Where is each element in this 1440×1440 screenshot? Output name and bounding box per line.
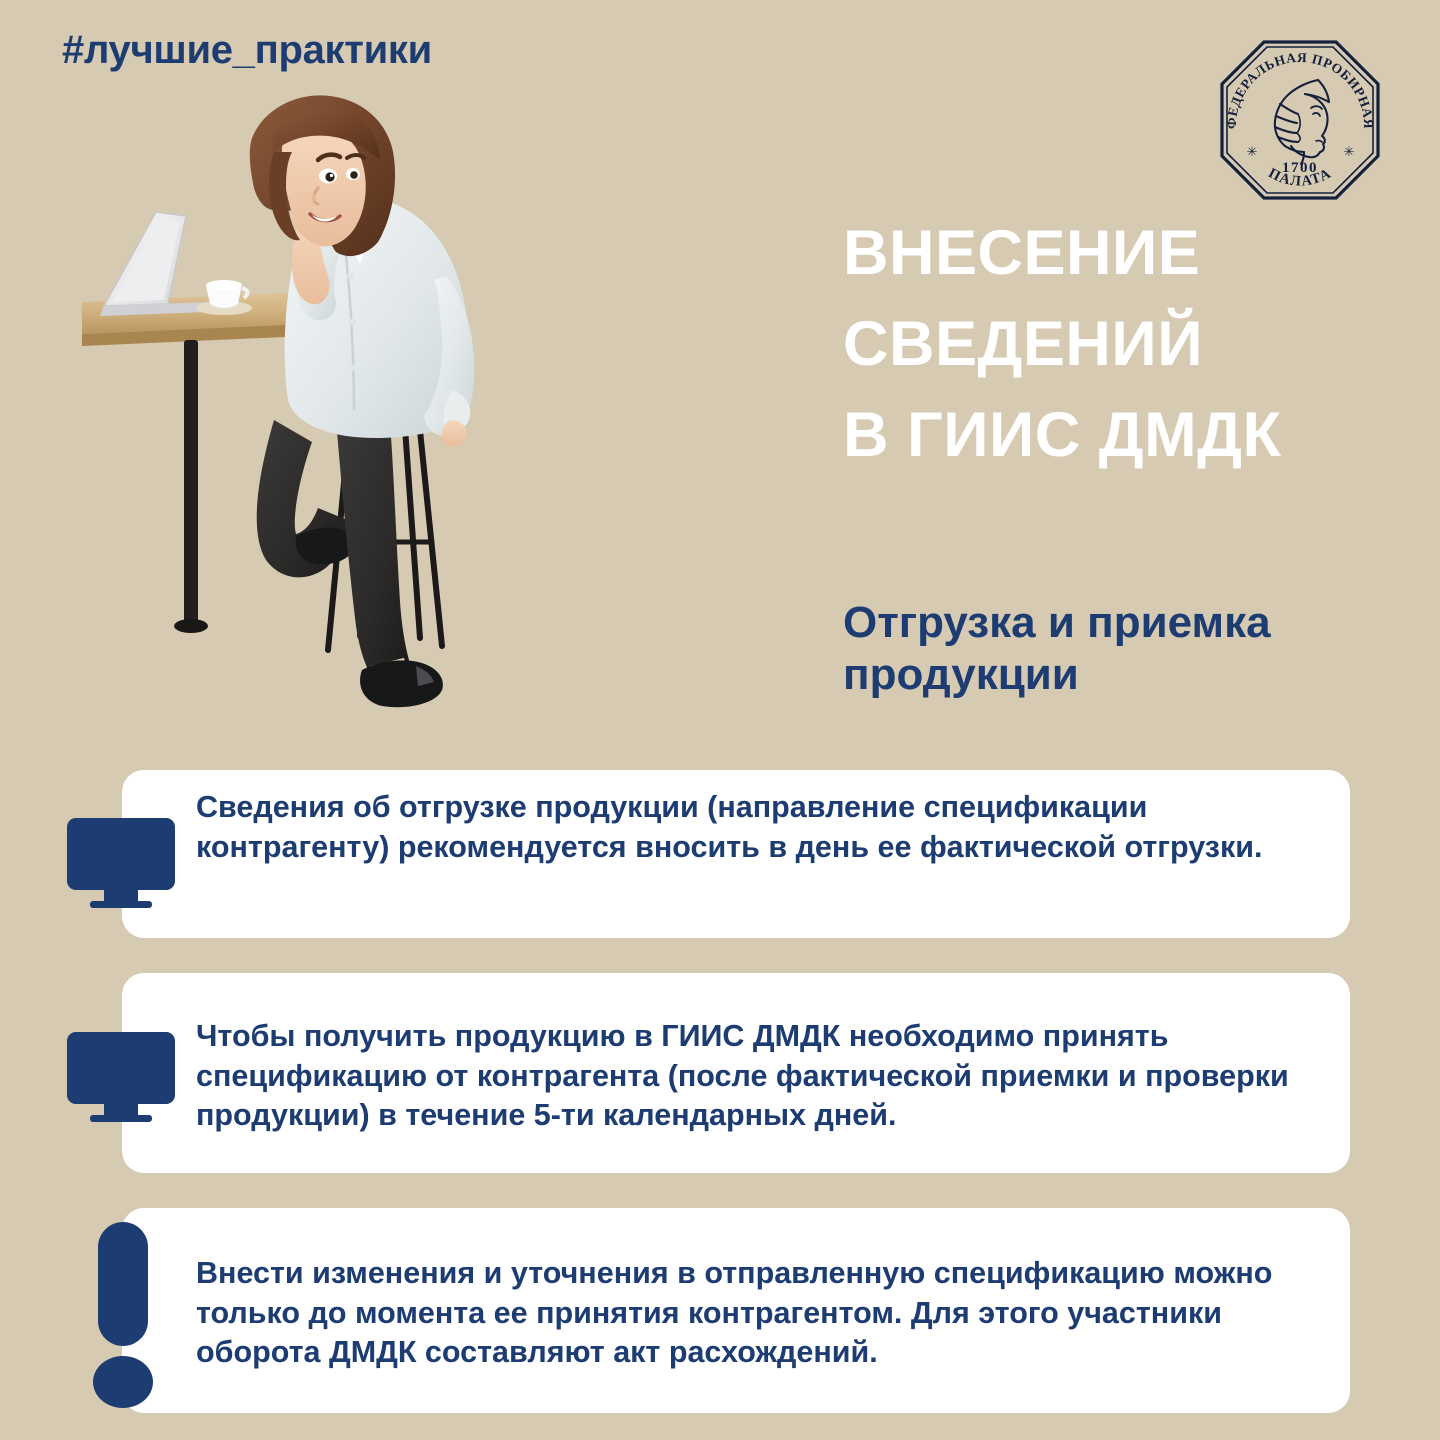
info-card-3: Внести изменения и уточнения в отправлен…: [122, 1208, 1350, 1413]
subtitle-line-1: Отгрузка и приемка: [843, 597, 1383, 649]
monitor-base-shape: [90, 1115, 152, 1122]
svg-text:✳: ✳: [1344, 144, 1355, 159]
monitor-base-shape: [90, 901, 152, 908]
info-card-3-text: Внести изменения и уточнения в отправлен…: [196, 1254, 1320, 1373]
svg-text:✳: ✳: [1247, 144, 1258, 159]
title-line-1: ВНЕСЕНИЕ: [843, 222, 1403, 285]
info-card-2: Чтобы получить продукцию в ГИИС ДМДК нео…: [122, 973, 1350, 1173]
title-line-3: В ГИИС ДМДК: [843, 404, 1403, 467]
subtitle-line-2: продукции: [843, 649, 1383, 701]
exclamation-bar-shape: [98, 1222, 148, 1346]
federal-assay-chamber-seal-logo: ФЕДЕРАЛЬНАЯ ПРОБИРНАЯ ПАЛАТА 1700 ✳ ✳: [1212, 32, 1388, 208]
monitor-screen-shape: [67, 1032, 175, 1104]
page-subtitle: Отгрузка и приемка продукции: [843, 597, 1383, 701]
hashtag-label: #лучшие_практики: [62, 28, 432, 73]
infographic-canvas: #лучшие_практики ФЕДЕРАЛЬНАЯ ПРОБИРНАЯ П…: [0, 0, 1440, 1440]
woman-at-laptop-illustration: [60, 90, 530, 710]
info-card-1: Сведения об отгрузке продукции (направле…: [122, 770, 1350, 938]
monitor-screen-shape: [67, 818, 175, 890]
info-card-2-text: Чтобы получить продукцию в ГИИС ДМДК нео…: [196, 1017, 1320, 1136]
exclamation-dot-shape: [93, 1356, 153, 1408]
monitor-icon: [67, 818, 175, 914]
svg-text:1700: 1700: [1282, 160, 1318, 176]
title-line-2: СВЕДЕНИЙ: [843, 313, 1403, 376]
monitor-icon: [67, 1032, 175, 1128]
page-title: ВНЕСЕНИЕ СВЕДЕНИЙ В ГИИС ДМДК: [843, 222, 1403, 467]
info-card-1-text: Сведения об отгрузке продукции (направле…: [196, 788, 1320, 867]
exclamation-icon: [93, 1222, 153, 1408]
